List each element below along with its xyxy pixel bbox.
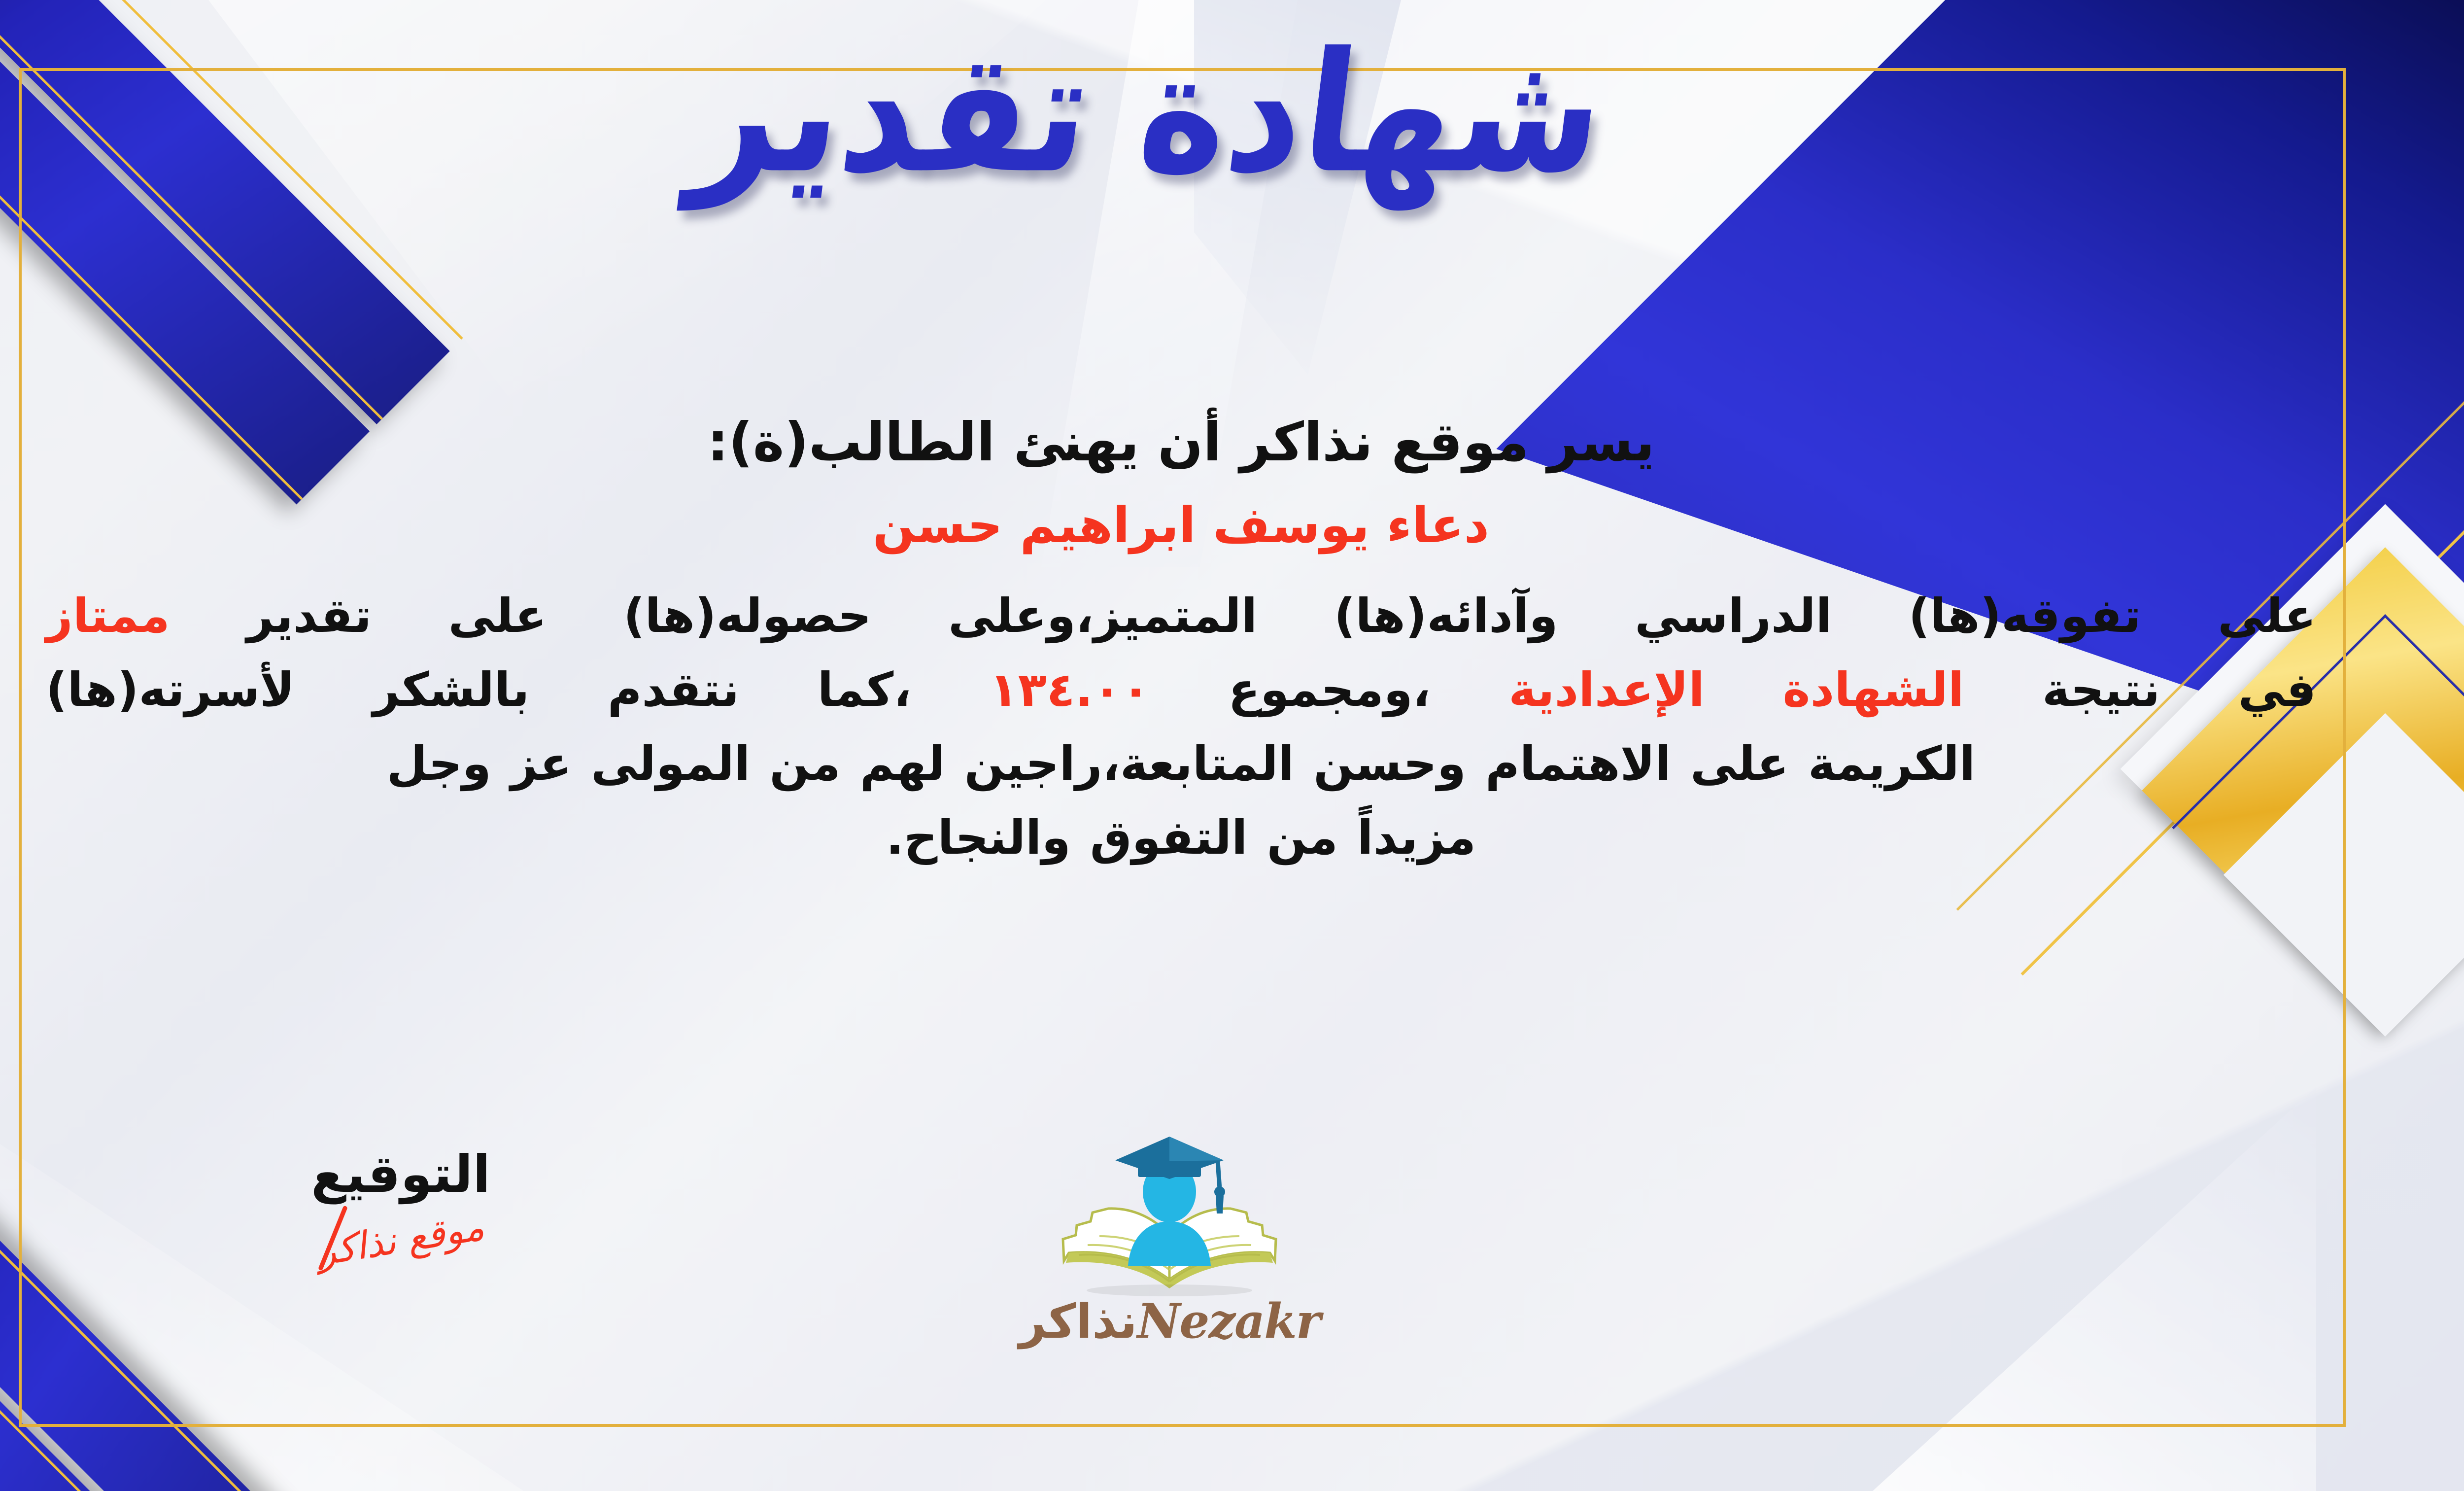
- citation-line-2-prefix: في نتيجة: [2042, 663, 2316, 717]
- grade-value: ممتاز: [46, 589, 170, 643]
- citation-line-4: مزيداً من التفوق والنجاح.: [46, 801, 2316, 875]
- citation-paragraph: على تفوقه(ها) الدراسي وآدائه(ها) المتميز…: [46, 579, 2316, 875]
- signature-label: التوقيع: [243, 1148, 558, 1200]
- certificate-body: يسر موقع نذاكر أن يهنئ الطالب(ة): دعاء ي…: [46, 409, 2316, 875]
- certificate-canvas: شهادة تقدير يسر موقع نذاكر أن يهنئ الطال…: [0, 0, 2464, 1491]
- citation-line-2: في نتيجة الشهادة الإعدادية ،ومجموع ١٣٤.٠…: [46, 653, 2316, 727]
- citation-line-2-suffix: ،كما نتقدم بالشكر لأسرته(ها): [46, 663, 911, 717]
- blue-blade-1: [0, 1067, 258, 1491]
- logo-arabic-name: نذاكر: [1019, 1294, 1137, 1349]
- logo-wordmark: Nezakrنذاكر: [987, 1293, 1352, 1349]
- graduate-book-logo-icon: [1046, 1134, 1293, 1296]
- background-facet-bottom-right: [1873, 1087, 2316, 1491]
- gold-line-1: [0, 1151, 173, 1491]
- exam-name: الشهادة الإعدادية: [1508, 663, 1964, 717]
- signature-block: التوقيع موقع نذاكر: [243, 1148, 558, 1261]
- site-logo: Nezakrنذاكر: [987, 1134, 1352, 1349]
- logo-latin-name: Nezakr: [1137, 1293, 1320, 1349]
- total-score-value: ١٣٤.٠٠: [990, 663, 1150, 717]
- citation-line-2-mid: ،ومجموع: [1228, 663, 1431, 717]
- gold-line-2: [0, 1071, 254, 1491]
- student-name: دعاء يوسف ابراهيم حسن: [46, 493, 2316, 557]
- greeting-text: يسر موقع نذاكر أن يهنئ الطالب(ة):: [46, 409, 2316, 476]
- certificate-title-wrapper: شهادة تقدير: [0, 39, 2464, 187]
- citation-line-1-text: على تفوقه(ها) الدراسي وآدائه(ها) المتميز…: [246, 589, 2316, 643]
- citation-line-1: على تفوقه(ها) الدراسي وآدائه(ها) المتميز…: [46, 579, 2316, 653]
- page-title: شهادة تقدير: [685, 31, 1613, 196]
- citation-line-3: الكريمة على الاهتمام وحسن المتابعة،راجين…: [46, 727, 2316, 801]
